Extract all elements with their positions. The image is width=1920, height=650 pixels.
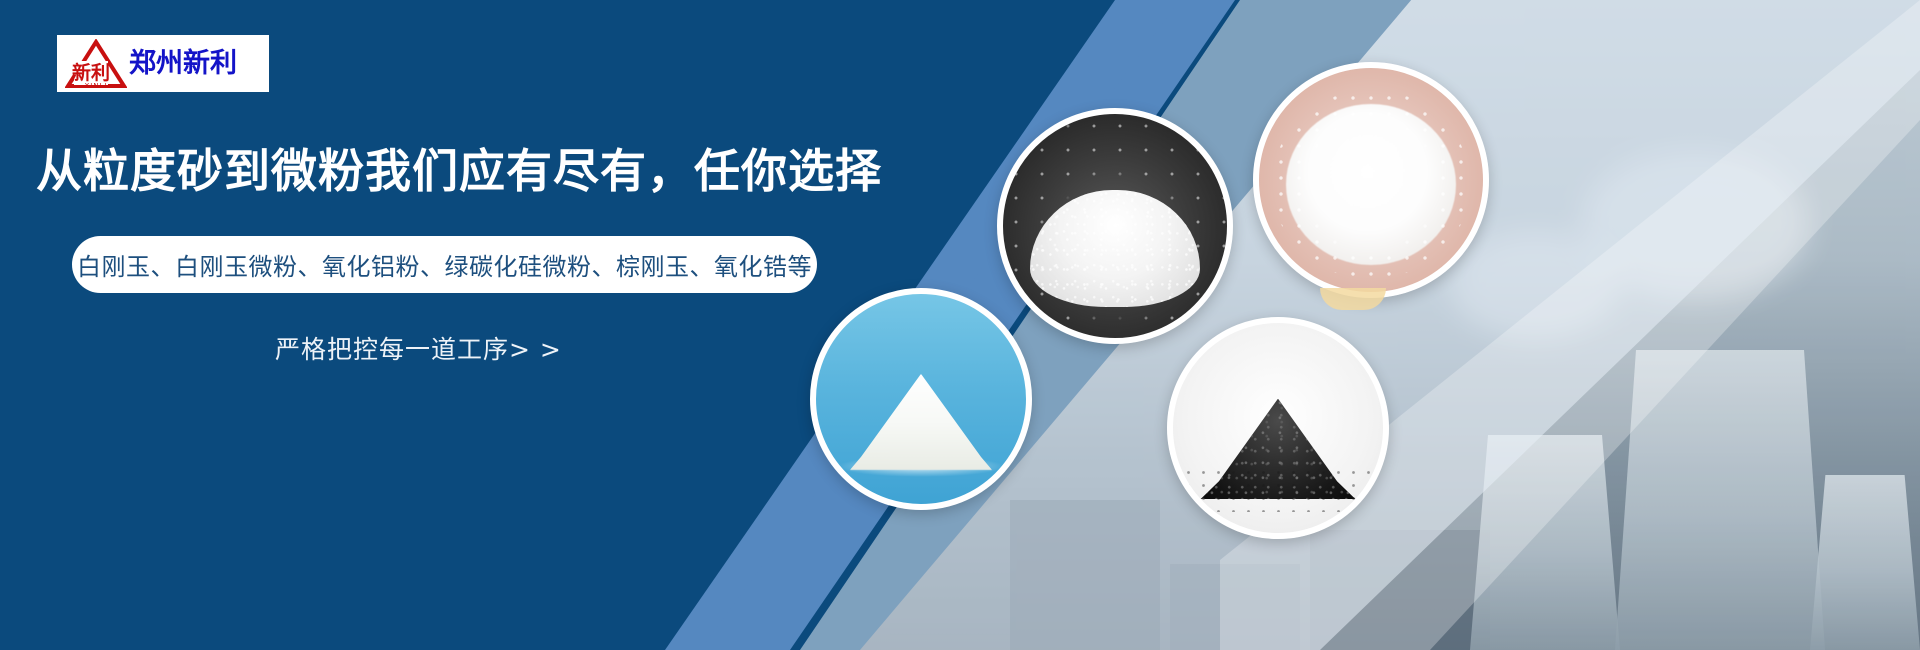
scattered-grains-texture xyxy=(1272,90,1469,278)
hero-headline: 从粒度砂到微粉我们应有尽有，任你选择 xyxy=(36,146,882,197)
product-image-white-fused-alumina-grit xyxy=(997,108,1233,344)
product-image-alumina-powder-cone xyxy=(810,288,1032,510)
scattered-grains-texture xyxy=(1003,114,1227,338)
product-image-black-silicon-carbide xyxy=(1167,317,1389,539)
cooling-tower-silhouette xyxy=(1810,475,1920,650)
triangle-seal-icon: 新利 XINLI xyxy=(65,39,127,89)
scattered-grains-texture xyxy=(1181,466,1374,512)
product-list-pill: 白刚玉、白刚玉微粉、氧化铝粉、绿碳化硅微粉、棕刚玉、氧化锆等 xyxy=(72,236,817,293)
material-pile xyxy=(850,374,993,471)
svg-text:新利: 新利 xyxy=(72,61,110,84)
company-logo[interactable]: 新利 XINLI 郑州新利 xyxy=(57,35,269,92)
promo-banner: 新利 XINLI 郑州新利 从粒度砂到微粉我们应有尽有，任你选择 白刚玉、白刚玉… xyxy=(0,0,1920,650)
product-list-text: 白刚玉、白刚玉微粉、氧化铝粉、绿碳化硅微粉、棕刚玉、氧化锆等 xyxy=(77,247,812,282)
logo-wordmark: 郑州新利 xyxy=(129,50,237,77)
svg-text:XINLI: XINLI xyxy=(84,82,107,89)
hero-subtitle-cta[interactable]: 严格把控每一道工序> > xyxy=(275,330,562,366)
product-image-white-alumina-micropowder xyxy=(1253,62,1489,298)
